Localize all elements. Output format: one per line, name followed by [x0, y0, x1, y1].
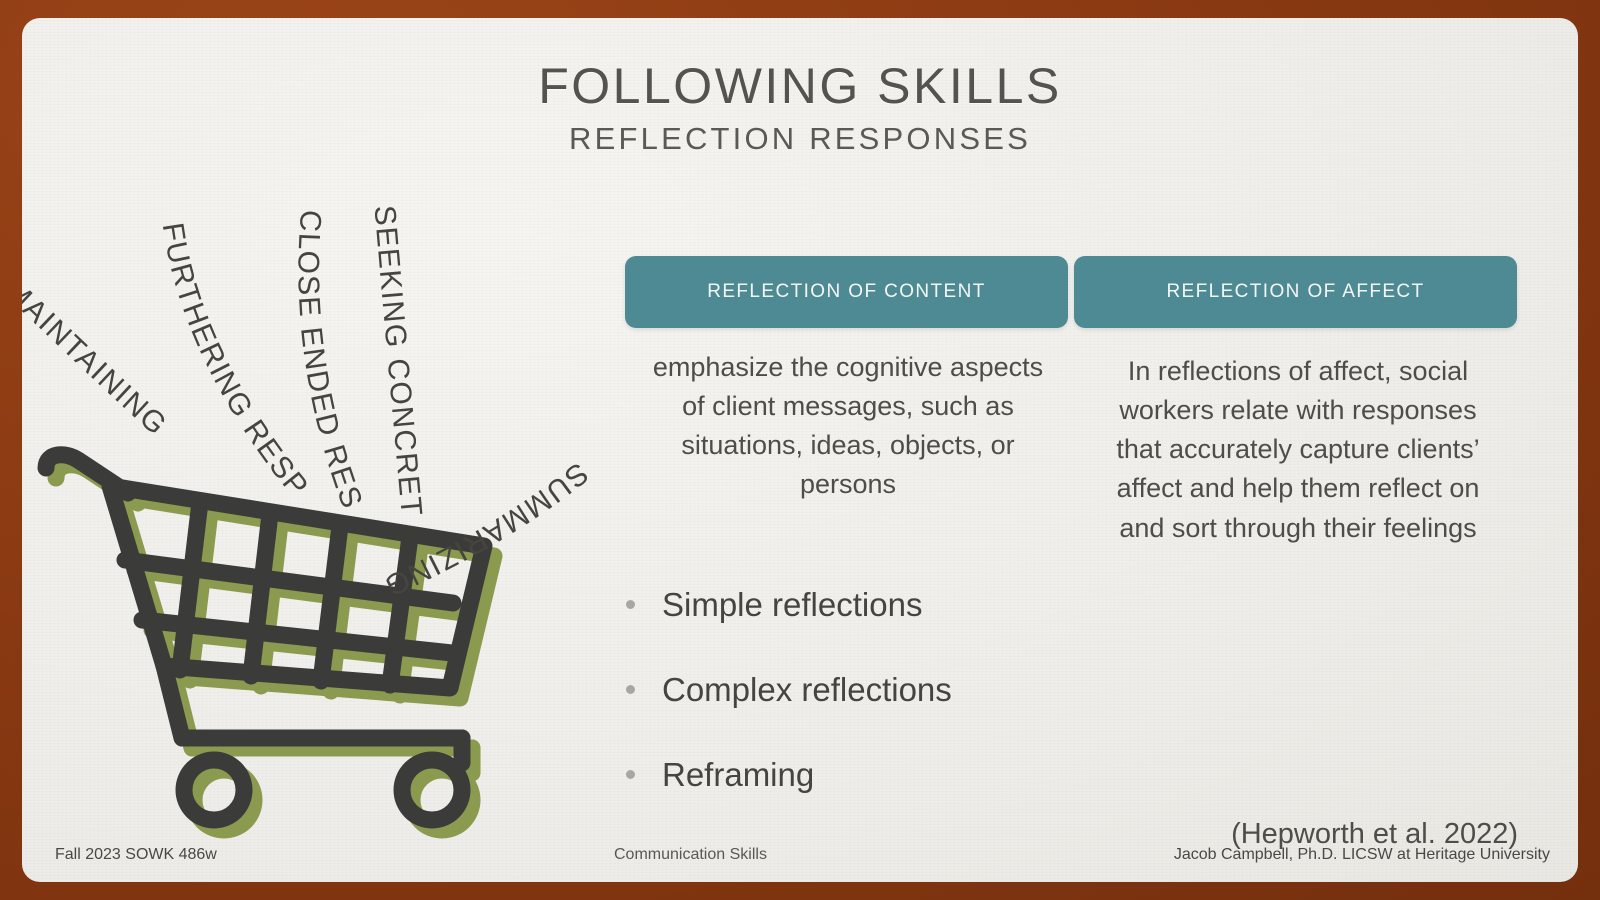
panel-body-reflection-of-content: emphasize the cognitive aspects of clien…	[642, 348, 1054, 505]
panel-header-reflection-of-affect[interactable]: REFLECTION OF AFFECT	[1074, 256, 1517, 328]
shopping-cart-illustration	[32, 438, 512, 868]
list-item: Simple reflections	[626, 588, 1086, 621]
bullet-dot-icon	[626, 685, 635, 694]
page-subtitle: REFLECTION RESPONSES	[22, 121, 1578, 157]
bullet-list: Simple reflections Complex reflections R…	[626, 588, 1086, 843]
list-item: Reframing	[626, 758, 1086, 791]
footer-course-term: Fall 2023 SOWK 486w	[55, 846, 217, 864]
radiating-label-maintaining-text: MAINTAINING	[22, 274, 174, 443]
list-item: Complex reflections	[626, 673, 1086, 706]
slide-canvas: FOLLOWING SKILLS REFLECTION RESPONSES	[22, 18, 1578, 882]
panel-header-content-label: REFLECTION OF CONTENT	[707, 281, 986, 303]
footer-presenter: Jacob Campbell, Ph.D. LICSW at Heritage …	[1174, 846, 1550, 864]
bullet-dot-icon	[626, 770, 635, 779]
panel-body-reflection-of-affect: In reflections of affect, social workers…	[1098, 352, 1498, 548]
bullet-dot-icon	[626, 600, 635, 609]
radiating-label-maintaining: MAINTAINING	[22, 274, 174, 443]
slide-root: FOLLOWING SKILLS REFLECTION RESPONSES	[0, 0, 1600, 900]
title-block: FOLLOWING SKILLS REFLECTION RESPONSES	[22, 60, 1578, 157]
panel-header-affect-label: REFLECTION OF AFFECT	[1166, 281, 1424, 303]
page-title: FOLLOWING SKILLS	[22, 60, 1578, 113]
bullet-label: Simple reflections	[662, 588, 922, 621]
bullet-label: Complex reflections	[662, 673, 952, 706]
panel-header-reflection-of-content[interactable]: REFLECTION OF CONTENT	[625, 256, 1068, 328]
footer-topic: Communication Skills	[614, 846, 767, 864]
bullet-label: Reframing	[662, 758, 814, 791]
